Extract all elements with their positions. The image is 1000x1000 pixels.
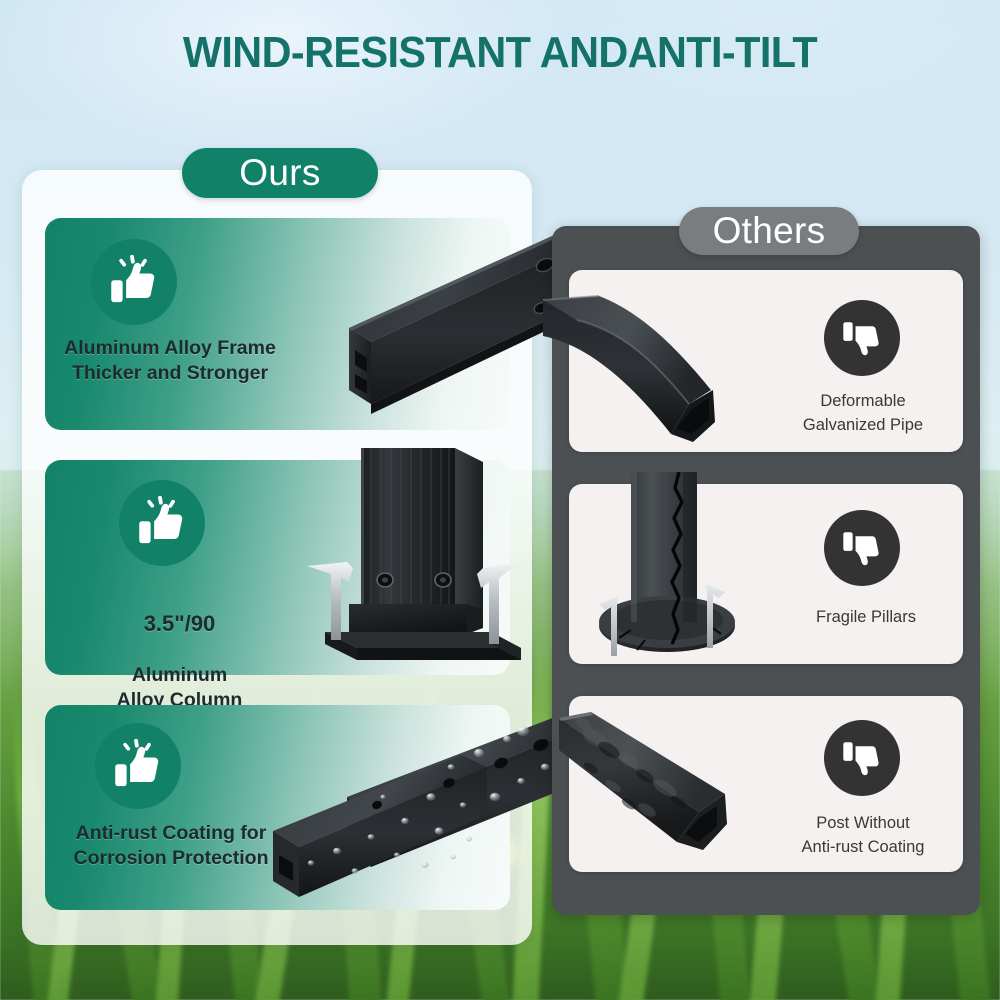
others-badge: Others (679, 207, 859, 255)
infographic-stage: WIND-RESISTANT ANDANTI-TILT Aluminum All… (0, 0, 1000, 1000)
page-title: WIND-RESISTANT ANDANTI-TILT (30, 28, 970, 78)
others-card-deformable-galvanized-pipe: Deformable Galvanized Pipe (569, 270, 963, 452)
ours-card-2-measure: 3.5"/90 (67, 610, 292, 638)
others-card-3-product-image (547, 702, 777, 868)
ours-card-aluminum-alloy-frame: Aluminum Alloy Frame Thicker and Stronge… (45, 218, 510, 430)
thumbs-up-icon (91, 239, 177, 325)
ours-card-3-label: Anti-rust Coating for Corrosion Protecti… (45, 821, 297, 871)
others-card-fragile-pillars: Fragile Pillars (569, 484, 963, 664)
others-card-post-without-anti-rust-coating: Post Without Anti-rust Coating (569, 696, 963, 872)
others-panel: Deformable Galvanized Pipe (552, 226, 980, 915)
thumbs-up-icon (95, 723, 181, 809)
ours-card-1-label: Aluminum Alloy Frame Thicker and Stronge… (45, 336, 295, 386)
ours-card-aluminum-alloy-column: 3.5"/90 Aluminum Alloy Column (45, 460, 510, 675)
others-card-1-label: Deformable Galvanized Pipe (781, 390, 945, 438)
others-card-2-label: Fragile Pillars (791, 606, 941, 630)
thumbs-down-icon (824, 510, 900, 586)
ours-card-2-label: 3.5"/90 Aluminum Alloy Column (67, 585, 292, 713)
thumbs-down-icon (824, 720, 900, 796)
thumbs-up-icon (119, 480, 205, 566)
others-card-1-product-image (537, 286, 787, 450)
others-card-2-product-image (579, 472, 779, 672)
ours-card-2-sublabel: Aluminum Alloy Column (117, 664, 243, 711)
others-card-3-label: Post Without Anti-rust Coating (781, 812, 945, 860)
ours-panel: Aluminum Alloy Frame Thicker and Stronge… (22, 170, 532, 945)
ours-badge: Ours (182, 148, 378, 198)
thumbs-down-icon (824, 300, 900, 376)
ours-card-anti-rust-coating: Anti-rust Coating for Corrosion Protecti… (45, 705, 510, 910)
